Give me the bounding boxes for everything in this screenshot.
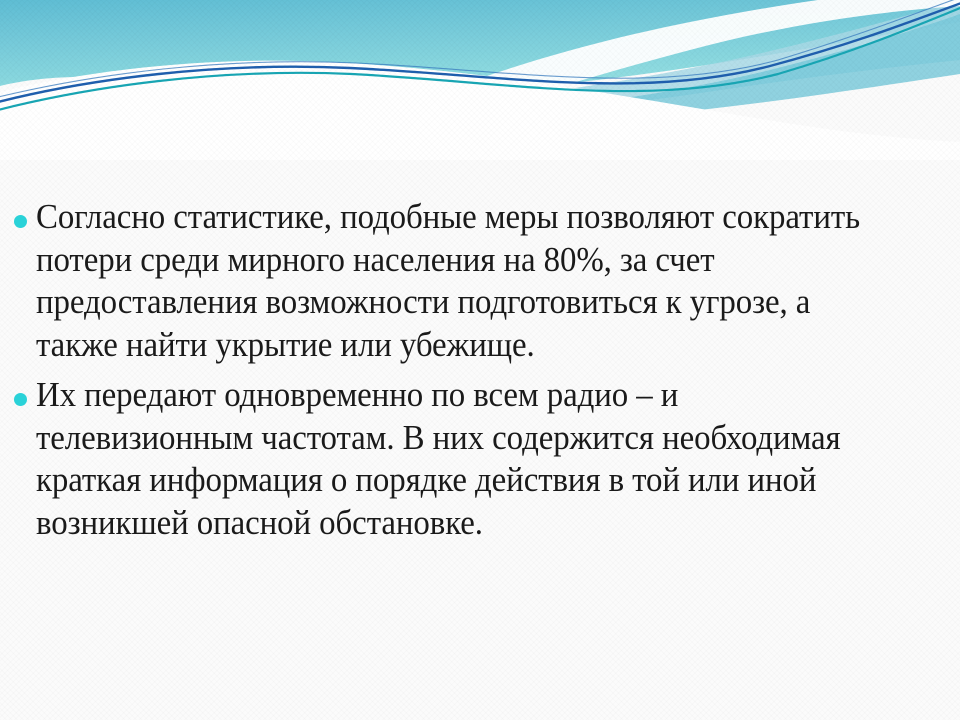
bullet-text: Согласно статистике, подобные меры позво… [36,196,863,366]
list-item: Их передают одновременно по всем радио –… [0,374,916,544]
bullet-list: Согласно статистике, подобные меры позво… [0,196,960,544]
list-item: Согласно статистике, подобные меры позво… [0,196,916,366]
bullet-text: Их передают одновременно по всем радио –… [36,374,863,544]
decorative-wave-banner [0,0,960,160]
wave-graphic [0,0,960,160]
presentation-slide: Согласно статистике, подобные меры позво… [0,0,960,720]
round-bullet-icon [14,393,27,406]
slide-body: Согласно статистике, подобные меры позво… [0,196,960,546]
round-bullet-icon [14,215,27,228]
